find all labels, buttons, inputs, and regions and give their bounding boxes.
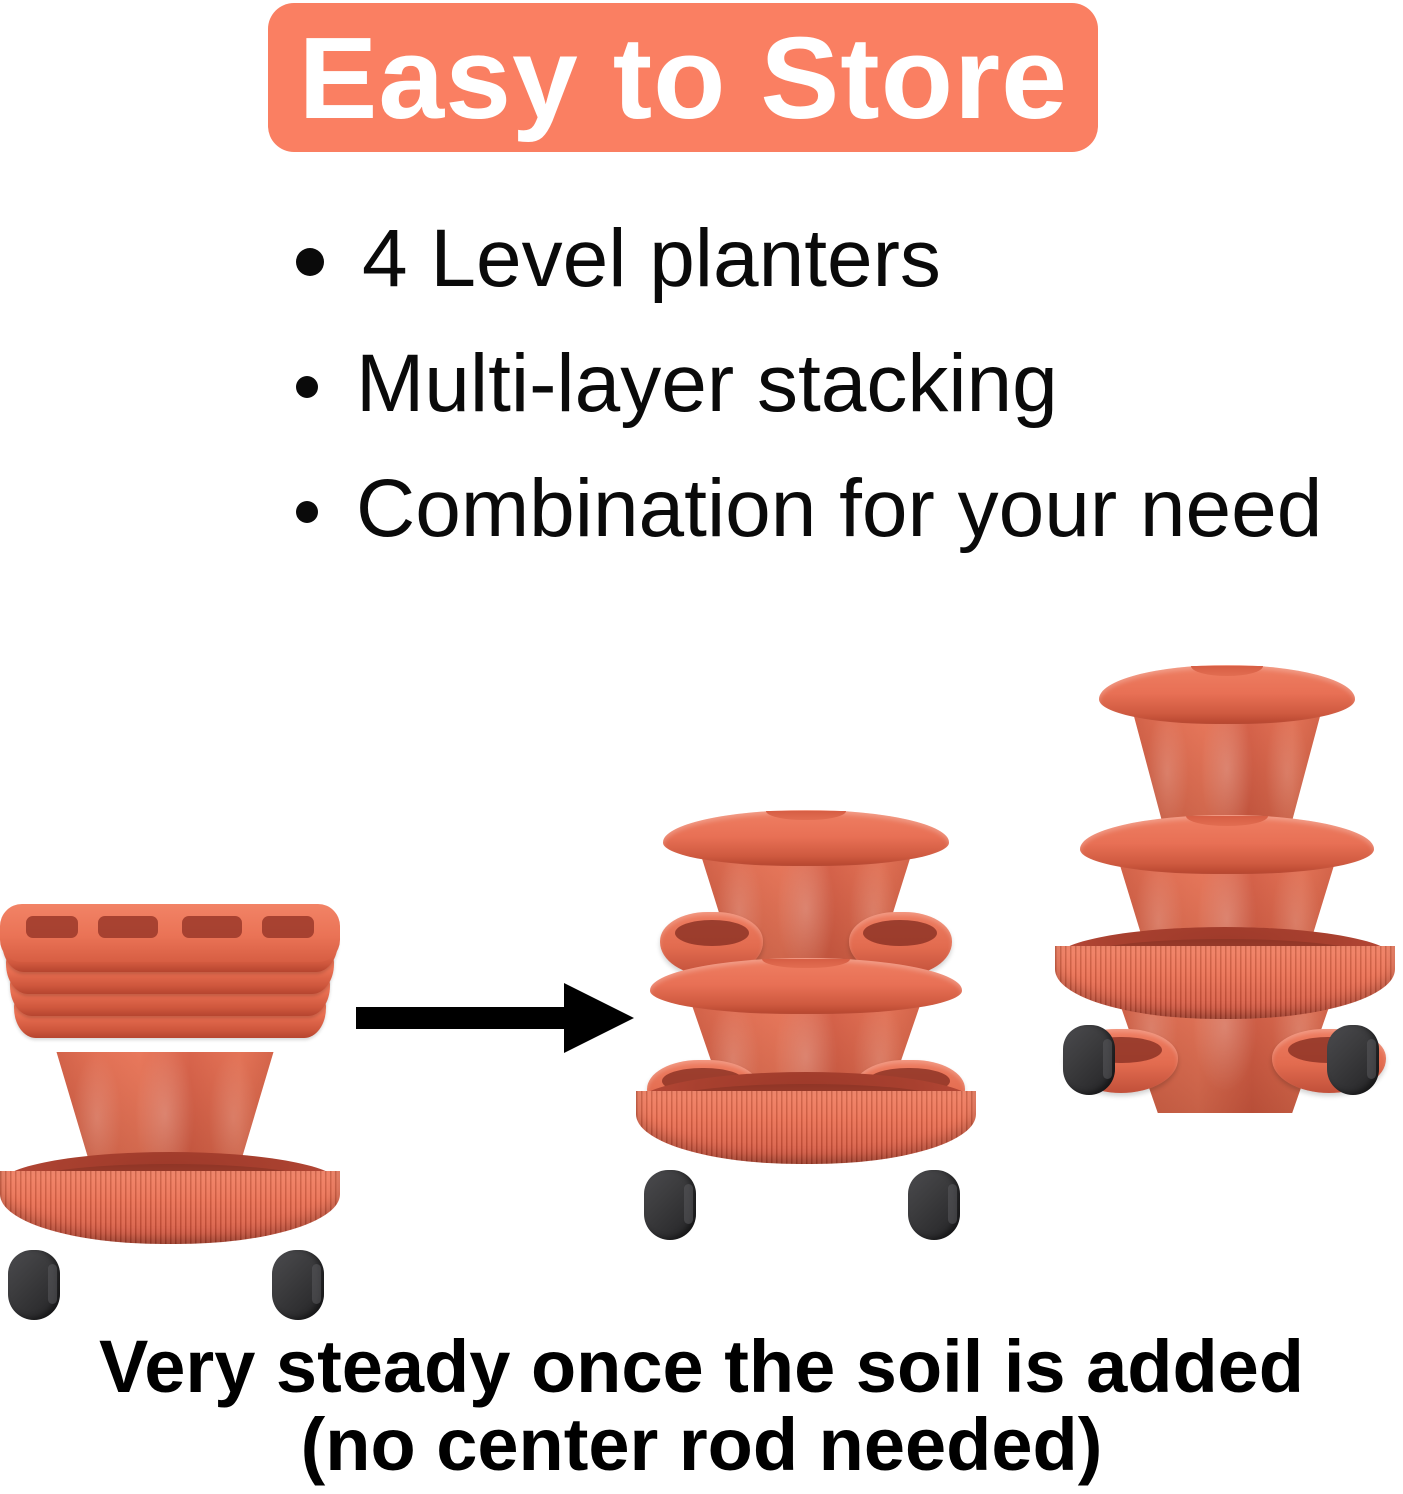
nested-rim-top-plate [0, 904, 340, 962]
rim-slot [98, 916, 158, 938]
bullet-dot-icon [296, 248, 324, 276]
planter-pocket-opening [863, 920, 937, 947]
planter-lip-notch [1191, 666, 1263, 676]
rim-slot [26, 916, 78, 938]
feature-label: 4 Level planters [362, 218, 941, 300]
planter-pocket-opening [675, 920, 749, 947]
planter-lip [650, 958, 962, 1014]
list-item: 4 Level planters [296, 196, 1366, 321]
planter-lip [663, 810, 949, 866]
feature-label: Multi-layer stacking [356, 343, 1058, 425]
planter-lip-notch [762, 959, 849, 968]
easy-to-store-badge: Easy to Store [268, 3, 1098, 152]
caster-wheel [272, 1250, 324, 1320]
rim-slot [182, 916, 242, 938]
product-flat-packed-stack [0, 890, 340, 1200]
planter-lip [1080, 815, 1373, 874]
bullet-dot-icon [296, 501, 318, 523]
feature-label: Combination for your need [356, 468, 1322, 550]
caption-line-2: (no center rod needed) [0, 1406, 1403, 1484]
planter-lip-notch [766, 811, 846, 820]
right-arrow-icon [356, 980, 636, 1056]
product-three-tier-stack [1055, 665, 1395, 1200]
caster-wheel [1327, 1025, 1379, 1095]
caster-wheel [8, 1250, 60, 1320]
planter-lip-notch [1186, 816, 1268, 826]
caption-line-1: Very steady once the soil is added [0, 1328, 1403, 1406]
footer-caption: Very steady once the soil is added (no c… [0, 1328, 1403, 1484]
planter-lip [1099, 665, 1355, 724]
caster-wheel [908, 1170, 960, 1240]
feature-list: 4 Level planters Multi-layer stacking Co… [296, 196, 1366, 571]
infographic-page: Easy to Store 4 Level planters Multi-lay… [0, 0, 1403, 1494]
caddy-ribbed-band [636, 1091, 976, 1164]
product-comparison-scene [0, 620, 1403, 1220]
badge-title: Easy to Store [298, 20, 1067, 136]
product-two-tier-stack [636, 810, 976, 1200]
caster-wheel [644, 1170, 696, 1240]
bullet-dot-icon [296, 376, 318, 398]
list-item: Multi-layer stacking [296, 321, 1366, 446]
caster-wheel [1063, 1025, 1115, 1095]
list-item: Combination for your need [296, 446, 1366, 571]
rim-slot [262, 916, 314, 938]
nested-rim-stack [0, 910, 340, 1030]
caddy-ribbed-band [1055, 946, 1395, 1019]
